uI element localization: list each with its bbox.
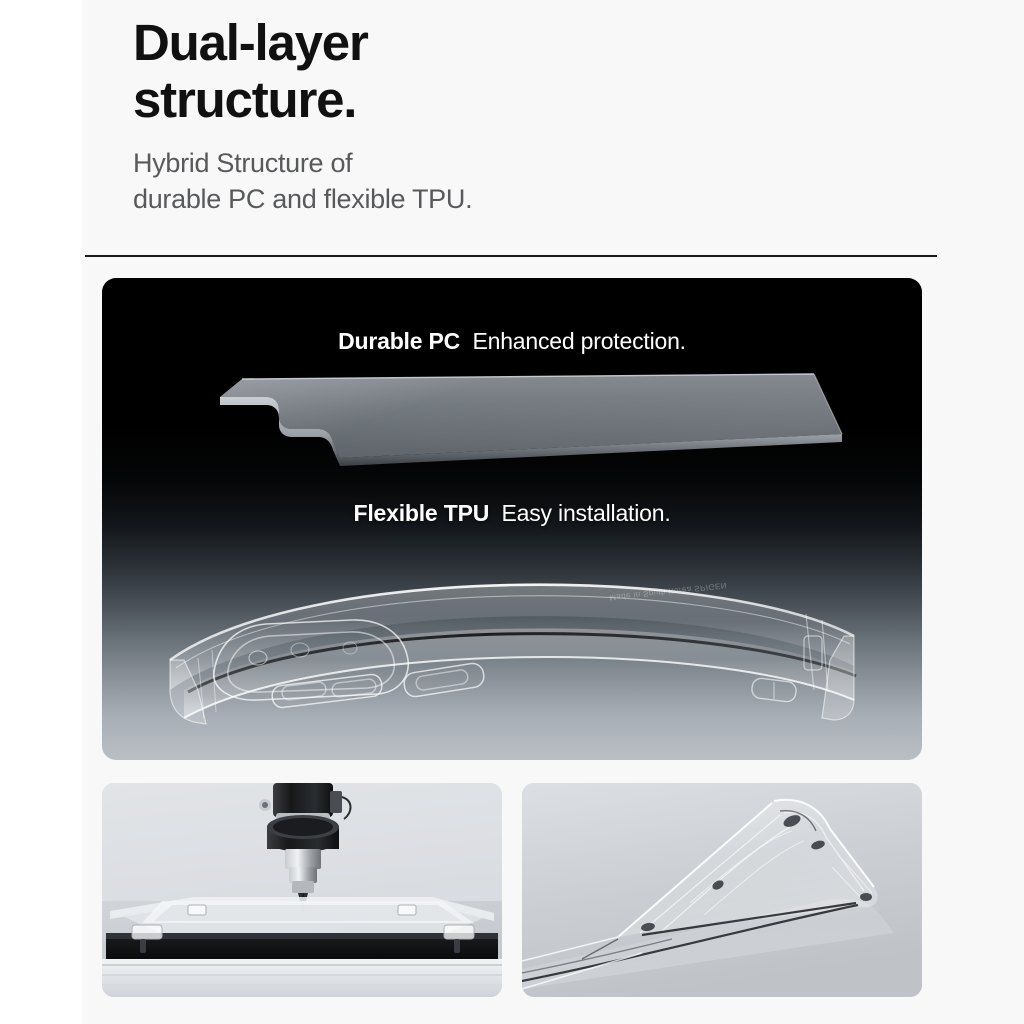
flexible-tpu-caption-regular: Easy installation. <box>502 500 671 526</box>
durable-pc-plate-illustration <box>190 366 850 481</box>
durable-pc-caption: Durable PC Enhanced protection. <box>102 328 922 355</box>
thumbnail-flexed-tpu-case <box>522 783 922 997</box>
flexible-tpu-caption: Flexible TPU Easy installation. <box>102 500 922 527</box>
hero-panel: Durable PC Enhanced protection. <box>102 278 922 760</box>
durable-pc-caption-regular: Enhanced protection. <box>472 328 685 354</box>
flexible-tpu-case-illustration <box>154 540 874 740</box>
thumbnail-cnc-machining <box>102 783 502 997</box>
header: Dual-layer structure. Hybrid Structure o… <box>133 14 833 218</box>
durable-pc-caption-bold: Durable PC <box>338 328 460 354</box>
flexible-tpu-caption-bold: Flexible TPU <box>353 500 489 526</box>
product-feature-page: Dual-layer structure. Hybrid Structure o… <box>0 0 1024 1024</box>
page-title: Dual-layer structure. <box>133 14 833 128</box>
section-divider <box>85 255 937 257</box>
page-subtitle: Hybrid Structure of durable PC and flexi… <box>133 146 833 218</box>
